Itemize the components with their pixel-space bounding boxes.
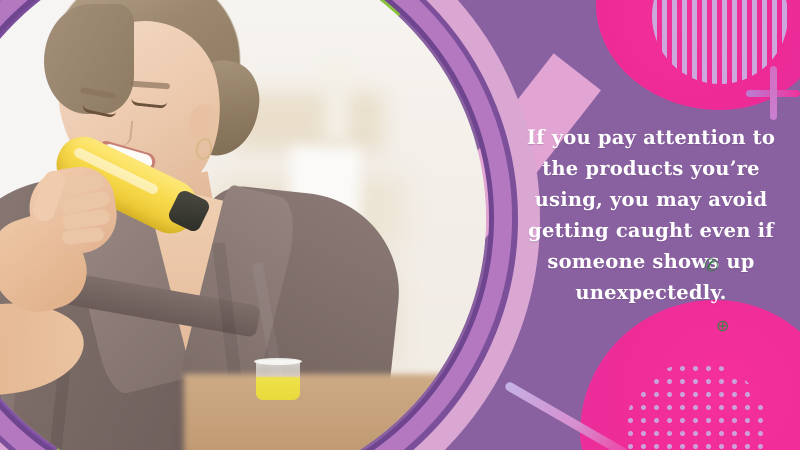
poster-canvas: If you pay attention to the products you…	[0, 0, 800, 450]
photo-ring-inner-outline	[0, 0, 494, 450]
plus-icon	[746, 66, 800, 120]
plus-icon-vertical-bar	[770, 66, 777, 120]
globe-icon: ⊕	[716, 316, 729, 335]
quote-text: If you pay attention to the products you…	[506, 122, 796, 308]
phone-icon: ✆	[703, 255, 720, 277]
